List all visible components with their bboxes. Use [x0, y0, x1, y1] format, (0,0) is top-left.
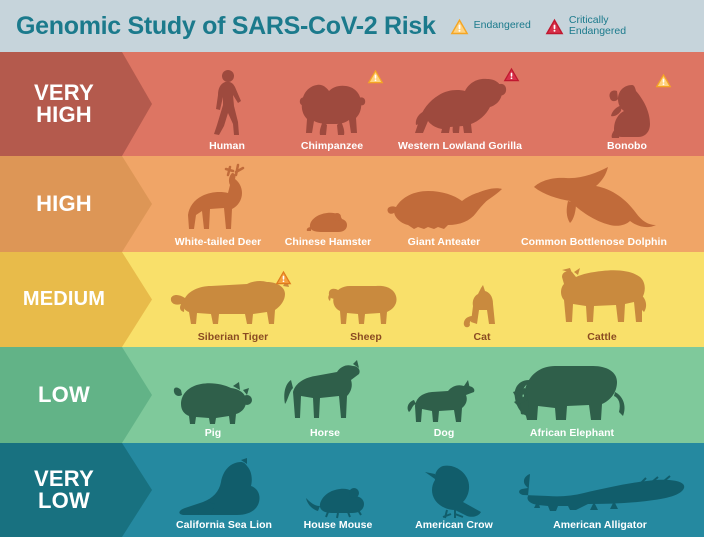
animal-giant-anteater[interactable]: Giant Anteater	[380, 183, 508, 248]
dog-silhouette	[406, 378, 482, 426]
animal-label: Chimpanzee	[301, 140, 363, 152]
hamster-silhouette	[306, 209, 350, 235]
risk-level-label: VERY LOW	[2, 468, 126, 513]
animal-label: White-tailed Deer	[175, 236, 262, 248]
cattle-silhouette	[554, 264, 650, 330]
animal-label: Cat	[473, 331, 490, 343]
mouse-silhouette	[306, 484, 370, 518]
animal-label: Siberian Tiger	[198, 331, 269, 343]
animal-horse[interactable]: Horse	[270, 360, 380, 439]
chimpanzee-silhouette	[293, 73, 371, 139]
animal-label: Bonobo	[607, 140, 647, 152]
risk-row-very-high: VERY HIGH Human	[0, 52, 704, 156]
warning-triangle-icon	[545, 18, 564, 35]
risk-level-chevron: HIGH	[0, 156, 152, 252]
legend-item-endangered: Endangered	[450, 18, 531, 35]
legend: Endangered Critically Endangered	[450, 15, 626, 38]
animal-label: House Mouse	[304, 519, 373, 531]
animal-group: Siberian Tiger Sheep	[152, 252, 704, 347]
animal-group: White-tailed Deer Chinese Hamster	[152, 156, 704, 252]
animal-common-bottlenose-dolphin[interactable]: Common Bottlenose Dolphin	[514, 165, 674, 248]
risk-level-chevron: MEDIUM	[0, 252, 152, 347]
animal-label: Horse	[310, 427, 340, 439]
animal-group: California Sea Lion House Mouse	[152, 443, 704, 537]
risk-level-label: MEDIUM	[2, 289, 126, 309]
animal-label: California Sea Lion	[176, 519, 272, 531]
dolphin-silhouette	[530, 165, 658, 235]
animal-human[interactable]: Human	[172, 69, 282, 152]
badge-endangered	[655, 73, 672, 88]
risk-row-high: HIGH White-tailed Deer	[0, 156, 704, 252]
risk-row-medium: MEDIUM	[0, 252, 704, 347]
animal-white-tailed-deer[interactable]: White-tailed Deer	[158, 163, 278, 248]
animal-label: Western Lowland Gorilla	[398, 140, 522, 152]
animal-label: Giant Anteater	[408, 236, 481, 248]
risk-row-very-low: VERY LOW California Sea Lion	[0, 443, 704, 537]
animal-chinese-hamster[interactable]: Chinese Hamster	[272, 209, 384, 248]
animal-label: Cattle	[587, 331, 616, 343]
legend-item-critically-endangered: Critically Endangered	[545, 15, 626, 38]
risk-level-chevron: LOW	[0, 347, 152, 443]
animal-cat[interactable]: Cat	[442, 282, 522, 343]
animal-label: American Crow	[415, 519, 493, 531]
alligator-silhouette	[514, 470, 686, 518]
cat-silhouette	[461, 282, 503, 330]
animal-label: Sheep	[350, 331, 382, 343]
animal-label: Chinese Hamster	[285, 236, 372, 248]
animal-california-sea-lion[interactable]: California Sea Lion	[158, 458, 290, 531]
bonobo-silhouette	[598, 77, 656, 139]
warning-triangle-icon	[450, 18, 469, 35]
animal-house-mouse[interactable]: House Mouse	[282, 484, 394, 531]
animal-group: Pig Horse	[152, 347, 704, 443]
badge-endangered	[275, 270, 292, 285]
infographic-root: Genomic Study of SARS-CoV-2 Risk Endange…	[0, 0, 704, 537]
animal-label: American Alligator	[553, 519, 647, 531]
sheep-silhouette	[328, 274, 404, 330]
animal-label: Human	[209, 140, 245, 152]
badge-critically-endangered	[503, 67, 520, 82]
animal-sheep[interactable]: Sheep	[318, 274, 414, 343]
animal-african-elephant[interactable]: African Elephant	[504, 358, 640, 439]
deer-silhouette	[180, 163, 256, 235]
legend-label-critically-endangered: Critically Endangered	[569, 15, 626, 38]
human-silhouette	[207, 69, 247, 139]
risk-level-label: LOW	[2, 384, 126, 406]
legend-label-endangered: Endangered	[474, 20, 531, 31]
pig-silhouette	[173, 376, 253, 426]
animal-label: Pig	[205, 427, 222, 439]
risk-level-chevron: VERY LOW	[0, 443, 152, 537]
animal-pig[interactable]: Pig	[164, 376, 262, 439]
animal-cattle[interactable]: Cattle	[544, 264, 660, 343]
crow-silhouette	[425, 460, 483, 518]
risk-level-label: VERY HIGH	[2, 82, 126, 127]
page-title: Genomic Study of SARS-CoV-2 Risk	[16, 12, 436, 41]
animal-western-lowland-gorilla[interactable]: Western Lowland Gorilla	[374, 69, 546, 152]
sea-lion-silhouette	[177, 458, 271, 518]
gorilla-silhouette	[401, 69, 519, 139]
animal-dog[interactable]: Dog	[400, 378, 488, 439]
anteater-silhouette	[386, 183, 502, 235]
risk-level-label: HIGH	[2, 193, 126, 215]
animal-siberian-tiger[interactable]: Siberian Tiger	[168, 272, 298, 343]
animal-bonobo[interactable]: Bonobo	[572, 77, 682, 152]
elephant-silhouette	[511, 358, 633, 426]
animal-american-alligator[interactable]: American Alligator	[510, 470, 690, 531]
risk-row-low: LOW Pig	[0, 347, 704, 443]
animal-american-crow[interactable]: American Crow	[394, 460, 514, 531]
header-bar: Genomic Study of SARS-CoV-2 Risk Endange…	[0, 0, 704, 52]
animal-label: Dog	[434, 427, 455, 439]
animal-label: Common Bottlenose Dolphin	[521, 236, 667, 248]
animal-label: African Elephant	[530, 427, 614, 439]
risk-level-chevron: VERY HIGH	[0, 52, 152, 156]
animal-group: Human	[152, 52, 704, 156]
horse-silhouette	[281, 360, 369, 426]
